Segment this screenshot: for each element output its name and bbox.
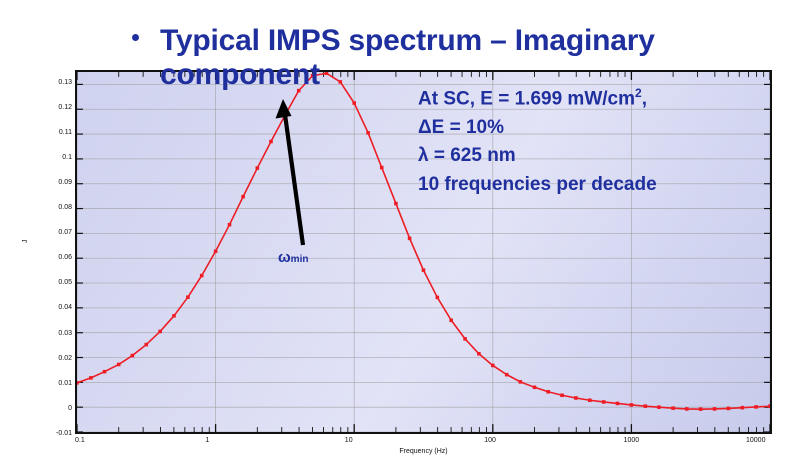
x-axis-title: Frequency (Hz) [75, 448, 772, 455]
y-axis-tick-labels: 0.130.120.110.10.090.080.070.060.050.040… [26, 70, 72, 434]
y-tick-label: 0.07 [30, 229, 72, 237]
slide-canvas: Typical IMPS spectrum – Imaginary compon… [0, 0, 800, 469]
y-tick-label: -0.01 [30, 430, 72, 438]
x-tick-label: 10 [345, 437, 353, 444]
annotation-line-2: ΔE = 10% [418, 114, 657, 143]
peak-pointer-arrow-icon [270, 95, 322, 250]
y-tick-label: 0.12 [30, 104, 72, 112]
bullet-icon [132, 34, 139, 41]
y-tick-label: 0.08 [30, 204, 72, 212]
y-tick-label: 0.09 [30, 179, 72, 187]
slide-title-block: Typical IMPS spectrum – Imaginary compon… [132, 24, 772, 91]
x-tick-label: 1000 [624, 437, 640, 444]
x-tick-label: 100 [484, 437, 496, 444]
page-title: Typical IMPS spectrum – Imaginary compon… [160, 24, 772, 91]
y-tick-label: 0.05 [30, 279, 72, 287]
annotation-line-3: λ = 625 nm [418, 142, 657, 171]
y-tick-label: 0.02 [30, 355, 72, 363]
x-tick-label: 10000 [746, 437, 765, 444]
y-tick-label: 0.1 [30, 154, 72, 162]
y-tick-label: 0.06 [30, 254, 72, 262]
omega-min-label: ωmin [278, 249, 308, 266]
y-tick-label: 0.13 [30, 79, 72, 87]
x-tick-label: 1 [205, 437, 209, 444]
y-tick-label: 0 [30, 405, 72, 413]
y-tick-label: 0.01 [30, 380, 72, 388]
y-tick-label: 0.04 [30, 304, 72, 312]
y-tick-label: 0.11 [30, 129, 72, 137]
x-tick-label: 0.1 [75, 437, 85, 444]
y-axis-title: J [22, 240, 29, 244]
y-tick-label: 0.03 [30, 330, 72, 338]
annotation-text-block: At SC, E = 1.699 mW/cm2, ΔE = 10% λ = 62… [418, 84, 657, 199]
annotation-line-4: 10 frequencies per decade [418, 171, 657, 200]
